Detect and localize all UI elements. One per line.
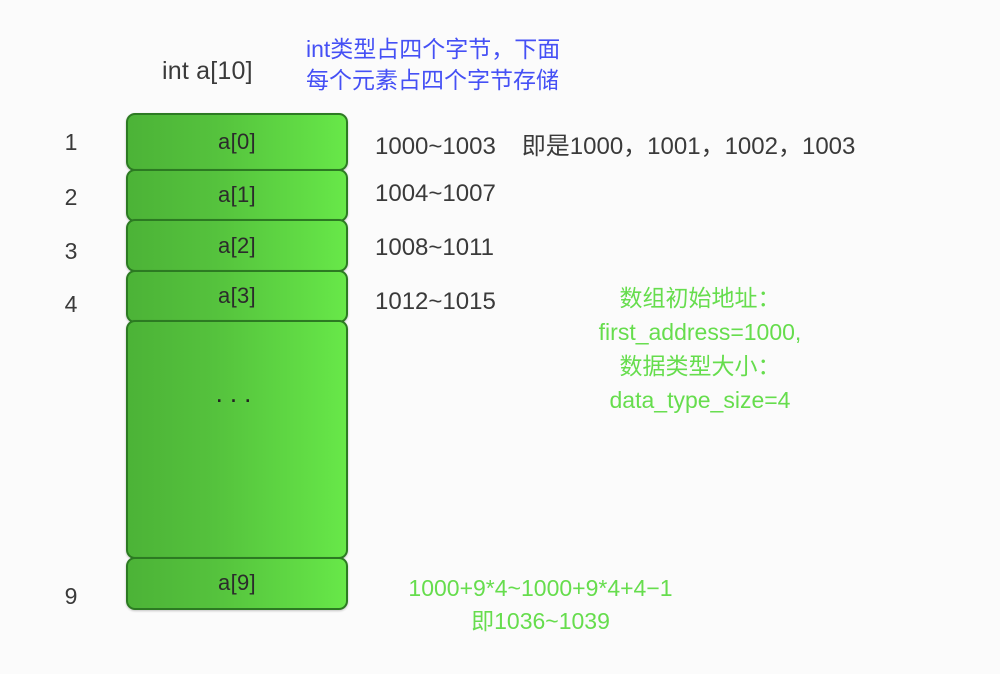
green-formula: 1000+9*4~1000+9*4+4−1 即1036~1039 <box>368 572 713 638</box>
memory-cell-a1[interactable]: a[1] <box>126 169 348 222</box>
address-range-text: 1012~1015 <box>375 288 496 315</box>
memory-cell-label: a[9] <box>218 570 256 596</box>
green-annotation-line-4: data_type_size=4 <box>540 383 860 417</box>
diagram-canvas: int a[10] int类型占四个字节，下面 每个元素占四个字节存储 1 2 … <box>0 0 1000 674</box>
memory-cell-label: a[1] <box>218 182 256 208</box>
memory-cell-label: a[2] <box>218 233 256 259</box>
blue-annotation-line-1: int类型占四个字节，下面 <box>306 34 560 65</box>
ellipsis-label: ... <box>128 378 346 409</box>
memory-cell-a3[interactable]: a[3] <box>126 270 348 323</box>
row-number-1: 1 <box>58 129 84 156</box>
row-number-2: 2 <box>58 184 84 211</box>
green-annotation-line-2: first_address=1000, <box>540 315 860 349</box>
address-expansion-text: 即是1000，1001，1002，1003 <box>522 133 856 160</box>
blue-annotation-line-2: 每个元素占四个字节存储 <box>306 65 560 96</box>
address-range-row-2: 1004~1007 <box>375 180 496 208</box>
address-range-text: 1008~1011 <box>375 234 494 261</box>
blue-annotation: int类型占四个字节，下面 每个元素占四个字节存储 <box>306 34 560 96</box>
green-formula-line-1: 1000+9*4~1000+9*4+4−1 <box>368 572 713 605</box>
address-range-row-4: 1012~1015 <box>375 288 496 316</box>
green-annotation: 数组初始地址： first_address=1000, 数据类型大小： data… <box>540 281 860 417</box>
memory-cell-ellipsis[interactable]: ... <box>126 320 348 559</box>
green-annotation-line-3: 数据类型大小： <box>540 349 860 383</box>
memory-cell-label: a[0] <box>218 129 256 155</box>
green-annotation-line-1: 数组初始地址： <box>540 281 860 315</box>
memory-cell-label: a[3] <box>218 283 256 309</box>
memory-cell-a2[interactable]: a[2] <box>126 219 348 272</box>
row-number-4: 4 <box>58 291 84 318</box>
array-declaration-label: int a[10] <box>162 57 253 86</box>
row-number-3: 3 <box>58 238 84 265</box>
memory-cell-column: a[0] a[1] a[2] a[3] ... a[9] <box>126 113 348 610</box>
green-formula-line-2: 即1036~1039 <box>368 605 713 638</box>
memory-cell-a0[interactable]: a[0] <box>126 113 348 171</box>
memory-cell-a9[interactable]: a[9] <box>126 557 348 610</box>
address-range-row-1: 1000~1003即是1000，1001，1002，1003 <box>375 126 855 161</box>
address-range-row-3: 1008~1011 <box>375 234 494 262</box>
row-number-9: 9 <box>58 583 84 610</box>
address-range-text: 1000~1003 <box>375 133 496 160</box>
address-range-text: 1004~1007 <box>375 180 496 207</box>
